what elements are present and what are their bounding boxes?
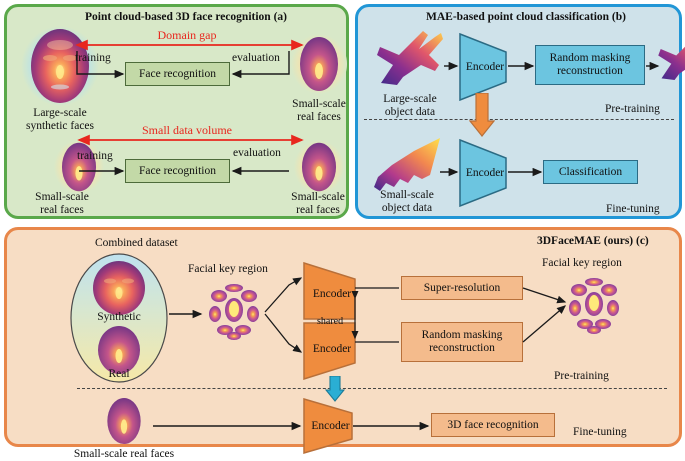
rmr-box-line1: Random masking [550, 52, 631, 65]
panel-b-stage-divider [364, 119, 674, 120]
panel-c-finetuning-stage-label: Fine-tuning [573, 426, 627, 438]
panel-c-encoder-top-label: Encoder [313, 288, 351, 300]
panel-c-encoder-bottom[interactable]: Encoder [303, 322, 365, 380]
small-scale-real-face-image-row2-left [53, 139, 105, 195]
panel-c-pretraining-stage-label: Pre-training [554, 370, 609, 382]
shared-weights-label: shared [317, 316, 343, 327]
dataset-item-real: Real [108, 368, 129, 381]
domain-gap-label: Domain gap [158, 29, 217, 42]
facial-key-region-input-cloud [205, 280, 263, 342]
reconstructed-object-point-cloud [655, 29, 685, 87]
panel-a-row1-evaluation-label: evaluation [232, 52, 280, 65]
panel-a-row1-right-caption-line1: Small-scale [292, 98, 346, 111]
small-data-volume-label: Small data volume [142, 124, 232, 137]
panel-3dfacemae-ours: 3DFaceMAE (ours) (c) Combined dataset [4, 227, 682, 447]
panel-b-finetune-input-caption-line2: object data [382, 202, 432, 215]
rmr-box-line2: reconstruction [557, 65, 623, 78]
panel-a-row2-training-label: training [77, 150, 113, 163]
panel-a-row2-right-caption-line1: Small-scale [291, 191, 345, 204]
panel-a-row2-left-caption-line1: Small-scale [35, 191, 89, 204]
panel-b-finetune-encoder[interactable]: Encoder [459, 139, 517, 207]
rmr-c-line1: Random masking [422, 329, 503, 342]
panel-b-finetune-input-caption-line1: Small-scale [380, 189, 434, 202]
large-scale-object-point-cloud [373, 25, 449, 91]
large-scale-synthetic-face-image [20, 25, 100, 107]
panel-b-pretrain-encoder-label: Encoder [466, 61, 504, 73]
panel-mae-point-cloud-classification: MAE-based point cloud classification (b)… [355, 4, 682, 219]
small-scale-object-point-cloud [370, 135, 444, 197]
classification-box[interactable]: Classification [543, 160, 638, 184]
panel-a-row1-right-caption-line2: real faces [297, 111, 341, 124]
random-masking-reconstruction-box-b[interactable]: Random masking reconstruction [535, 45, 645, 85]
panel-a-row2-evaluation-label: evaluation [233, 147, 281, 160]
panel-b-transfer-arrow [469, 93, 495, 137]
panel-b-title: MAE-based point cloud classification (b) [426, 11, 626, 23]
panel-a-row1-left-caption-line1: Large-scale [33, 107, 86, 120]
small-scale-real-face-image-row1 [290, 33, 348, 95]
face-recognition-box-row1[interactable]: Face recognition [125, 62, 230, 86]
panel-c-encoder-bottom-label: Encoder [313, 343, 351, 355]
panel-b-pretrain-input-caption-line1: Large-scale [383, 93, 436, 106]
panel-a-row1-training-label: training [75, 52, 111, 65]
panel-a-row1-left-caption-line2: synthetic faces [26, 120, 94, 133]
facial-key-region-output-label: Facial key region [542, 257, 622, 270]
rmr-c-line2: reconstruction [429, 342, 495, 355]
panel-c-title: 3DFaceMAE (ours) (c) [537, 235, 649, 247]
panel-b-finetuning-stage-label: Fine-tuning [606, 203, 660, 215]
panel-a-row2-left-caption-line2: real faces [40, 204, 84, 217]
panel-a-row2-right-caption-line2: real faces [296, 204, 340, 217]
panel-point-cloud-face-recognition: Point cloud-based 3D face recognition (a… [4, 4, 349, 219]
panel-c-finetune-input-caption: Small-scale real faces [74, 448, 174, 461]
facial-key-region-output-cloud [565, 274, 623, 336]
panel-b-finetune-encoder-label: Encoder [466, 167, 504, 179]
panel-a-title: Point cloud-based 3D face recognition (a… [85, 11, 287, 23]
panel-c-encoder-top[interactable]: Encoder [303, 262, 365, 320]
panel-b-pretraining-stage-label: Pre-training [605, 103, 660, 115]
small-scale-real-face-image-row2-right [293, 139, 345, 195]
panel-b-pretrain-input-caption-line2: object data [385, 106, 435, 119]
panel-c-finetune-encoder[interactable]: Encoder [303, 398, 363, 454]
face-recognition-box-row2[interactable]: Face recognition [125, 159, 230, 183]
dataset-item-synthetic: Synthetic [97, 311, 140, 324]
small-scale-real-face-image-panel-c [101, 395, 147, 447]
panel-b-pretrain-encoder[interactable]: Encoder [459, 33, 517, 101]
panel-c-finetune-encoder-label: Encoder [311, 420, 349, 432]
facial-key-region-input-label: Facial key region [188, 263, 268, 276]
random-masking-reconstruction-box-c[interactable]: Random masking reconstruction [401, 322, 523, 362]
combined-dataset-label: Combined dataset [95, 237, 178, 250]
panel-c-stage-divider [77, 388, 667, 389]
super-resolution-box[interactable]: Super-resolution [401, 276, 523, 300]
3d-face-recognition-box[interactable]: 3D face recognition [431, 413, 555, 437]
